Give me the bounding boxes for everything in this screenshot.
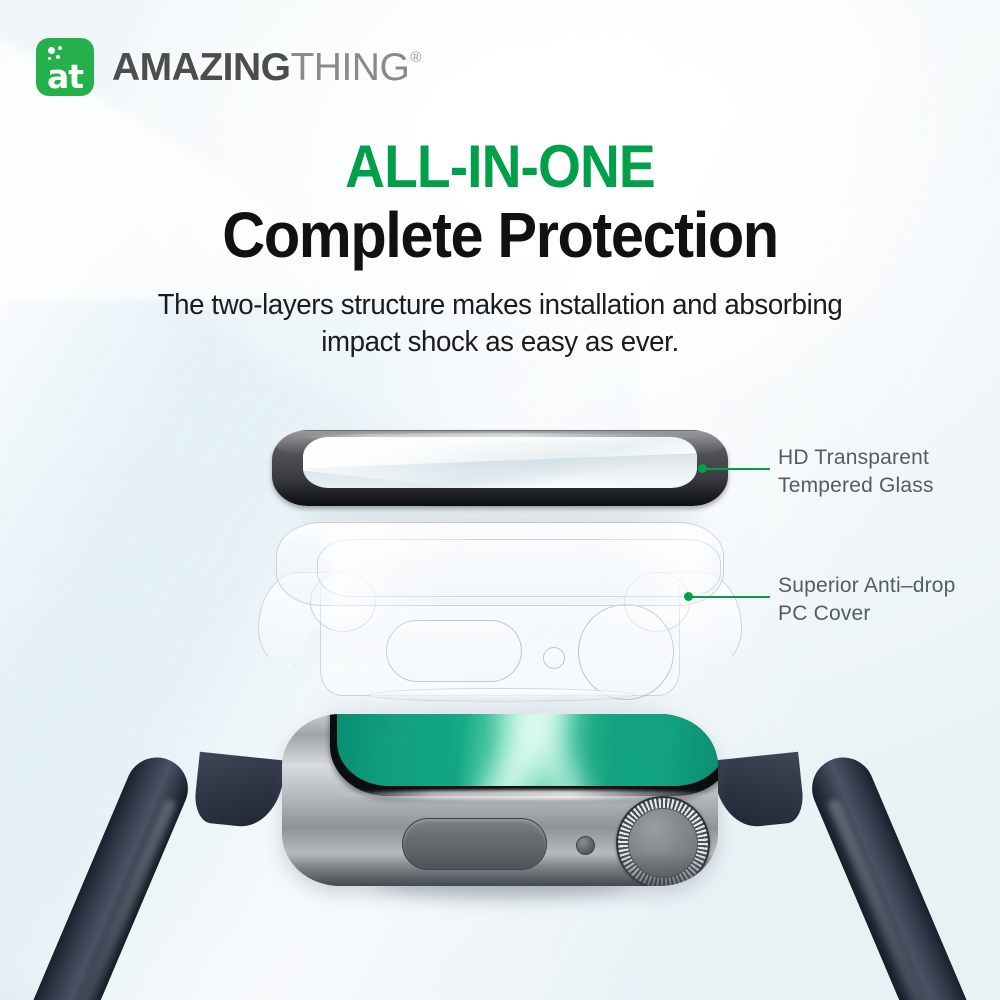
- pc-cover-crown-cutout: [578, 604, 674, 700]
- crown-face: [628, 808, 698, 878]
- watch-wallpaper: [337, 714, 718, 786]
- smartwatch: [246, 714, 754, 904]
- watch-band-left: [23, 748, 197, 1000]
- pc-cover-top-rim: [276, 522, 724, 606]
- callout-leader-line: [702, 468, 770, 470]
- glass-frame: [272, 430, 728, 506]
- exploded-product-stack: [0, 0, 1000, 1000]
- callout-label-tempered-glass: HD Transparent Tempered Glass: [778, 444, 934, 499]
- watch-case: [282, 714, 718, 886]
- callout-label-pc-cover: Superior Anti–drop PC Cover: [778, 572, 956, 627]
- tempered-glass-layer: [272, 430, 728, 522]
- pc-cover-layer: [258, 520, 742, 720]
- callout-leader-line: [688, 596, 770, 598]
- watch-microphone-icon: [576, 836, 595, 855]
- glass-top-highlight: [296, 433, 704, 441]
- watch-screen: [330, 714, 718, 796]
- pc-cover-inner-rim: [317, 539, 721, 597]
- wallpaper-shade-right: [587, 714, 718, 786]
- pc-cover-microphone-cutout: [543, 647, 565, 669]
- pc-cover-bottom-lip: [368, 688, 634, 702]
- glass-pane: [303, 437, 697, 488]
- wallpaper-shade-left: [337, 714, 477, 786]
- watch-side-button[interactable]: [402, 818, 547, 870]
- watch-digital-crown[interactable]: [616, 796, 710, 886]
- watch-band-right: [802, 748, 976, 1000]
- product-marketing-banner: at AMAZING THING ® ALL-IN-ONE Complete P…: [0, 0, 1000, 1000]
- pc-cover-shell: [258, 520, 742, 706]
- pc-cover-side-button-cutout: [386, 620, 522, 682]
